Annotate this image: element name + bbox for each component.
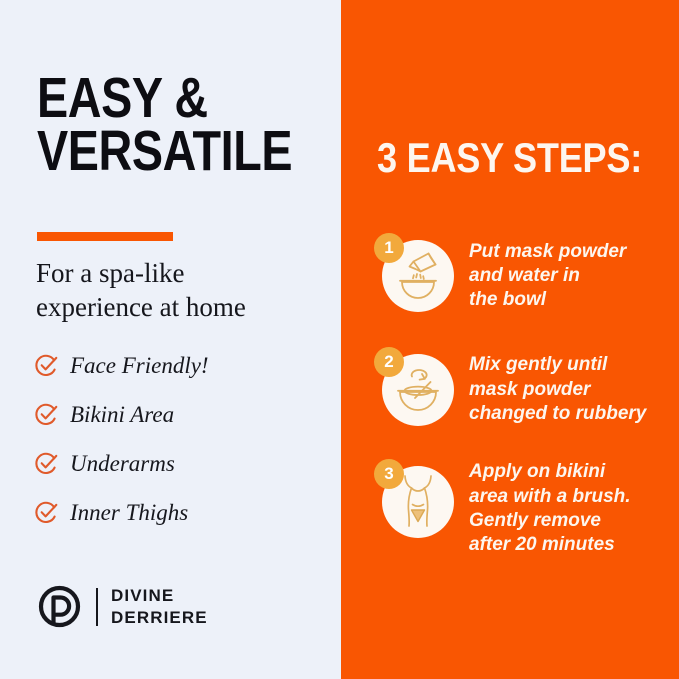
check-circle-icon (34, 353, 59, 378)
right-panel: 3 EASY STEPS: (341, 0, 679, 679)
list-item-label: Underarms (70, 452, 175, 475)
divine-derriere-monogram-icon (36, 583, 83, 630)
logo-divider (96, 588, 98, 626)
product-infographic: EASY & VERSATILE For a spa-like experien… (0, 0, 679, 679)
step-text-2: Mix gently until mask powder changed to … (469, 346, 674, 425)
list-item: Underarms (34, 439, 334, 488)
accent-divider-bar (37, 232, 173, 241)
step-item-1: 1 Put mask powder and water in the bowl (374, 232, 674, 312)
list-item-label: Inner Thighs (70, 501, 188, 524)
step-icon-wrap: 1 (374, 232, 454, 312)
step-icon-wrap: 2 (374, 346, 454, 426)
subtitle: For a spa-like experience at home (36, 256, 336, 325)
step-badge-1: 1 (374, 233, 404, 263)
step-item-2: 2 Mix gently until mask powder changed t… (374, 346, 674, 426)
list-item-label: Face Friendly! (70, 354, 209, 377)
list-item: Bikini Area (34, 390, 334, 439)
step-item-3: 3 Apply on bikini area with a brush. Gen… (374, 458, 674, 557)
check-circle-icon (34, 451, 59, 476)
left-panel: EASY & VERSATILE For a spa-like experien… (0, 0, 341, 679)
list-item: Face Friendly! (34, 341, 334, 390)
list-item-label: Bikini Area (70, 403, 174, 426)
step-icon-wrap: 3 (374, 458, 454, 538)
list-item: Inner Thighs (34, 488, 334, 537)
logo-wordmark: DIVINE DERRIERE (111, 585, 208, 629)
step-text-3: Apply on bikini area with a brush. Gentl… (469, 458, 674, 557)
check-circle-icon (34, 500, 59, 525)
brand-logo: DIVINE DERRIERE (36, 583, 208, 630)
page-title: EASY & VERSATILE (37, 72, 275, 178)
step-text-1: Put mask powder and water in the bowl (469, 232, 674, 312)
benefits-checklist: Face Friendly! Bikini Area (34, 341, 334, 537)
check-circle-icon (34, 402, 59, 427)
steps-list: 1 Put mask powder and water in the bowl (374, 232, 674, 557)
steps-title: 3 EASY STEPS: (377, 134, 642, 182)
